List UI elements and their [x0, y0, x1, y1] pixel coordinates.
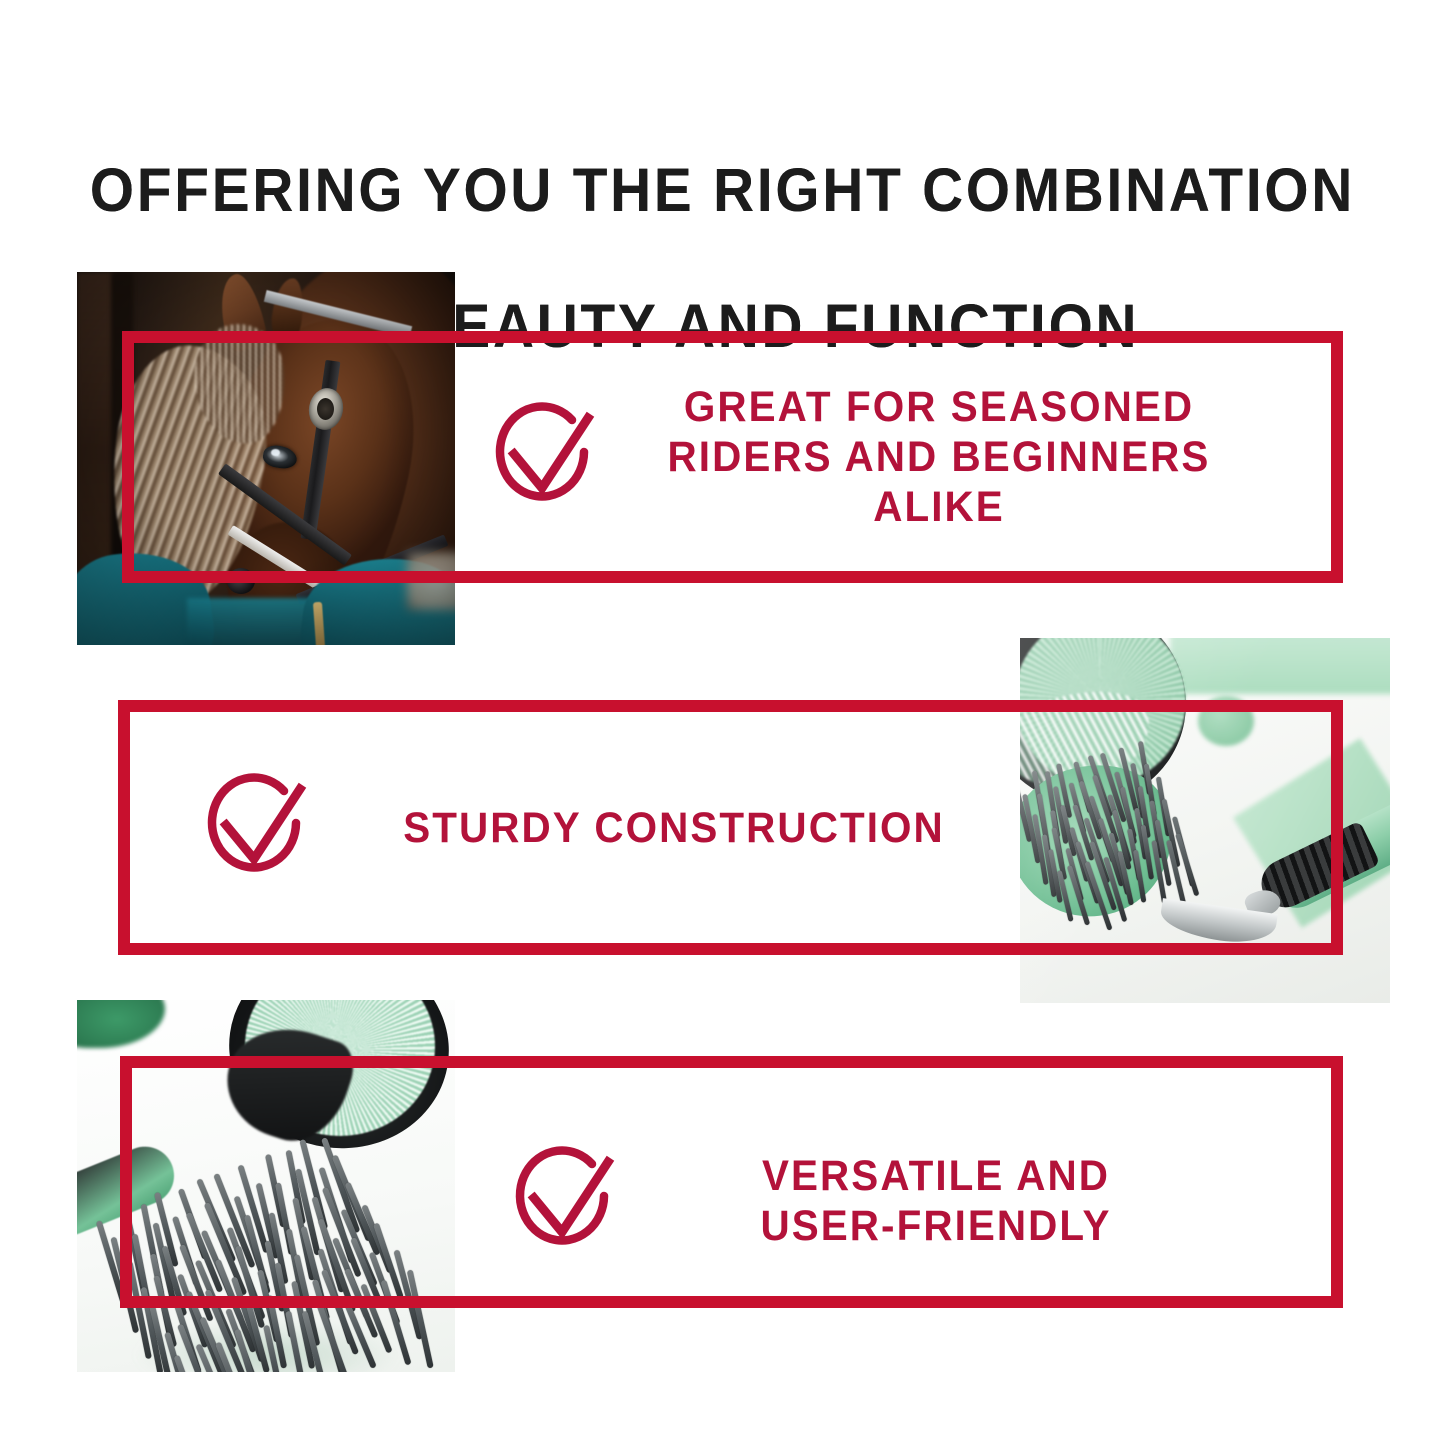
- check-circle-icon: [488, 396, 606, 519]
- feature-label-3: VERSATILE AND USER-FRIENDLY: [673, 1151, 1199, 1252]
- feature-label-2: STURDY CONSTRUCTION: [368, 803, 981, 853]
- feature-image-horse: [77, 272, 455, 645]
- photo-gleam: [1020, 638, 1390, 1003]
- photo-vignette: [77, 272, 455, 645]
- feature-label-1: GREAT FOR SEASONED RIDERS AND BEGINNERS …: [649, 382, 1230, 533]
- feature-row-2: STURDY CONSTRUCTION: [200, 768, 1000, 888]
- feature-row-3: VERSATILE AND USER-FRIENDLY: [508, 1136, 1228, 1266]
- check-circle-icon: [508, 1140, 626, 1263]
- feature-image-mane-brush: [77, 1000, 455, 1372]
- feature-image-brush-pick: [1020, 638, 1390, 1003]
- infographic-canvas: OFFERING YOU THE RIGHT COMBINATION OF BE…: [0, 0, 1445, 1445]
- page-title-line-1: OFFERING YOU THE RIGHT COMBINATION: [51, 156, 1395, 224]
- feature-row-1: GREAT FOR SEASONED RIDERS AND BEGINNERS …: [488, 382, 1248, 532]
- check-circle-icon: [200, 767, 318, 890]
